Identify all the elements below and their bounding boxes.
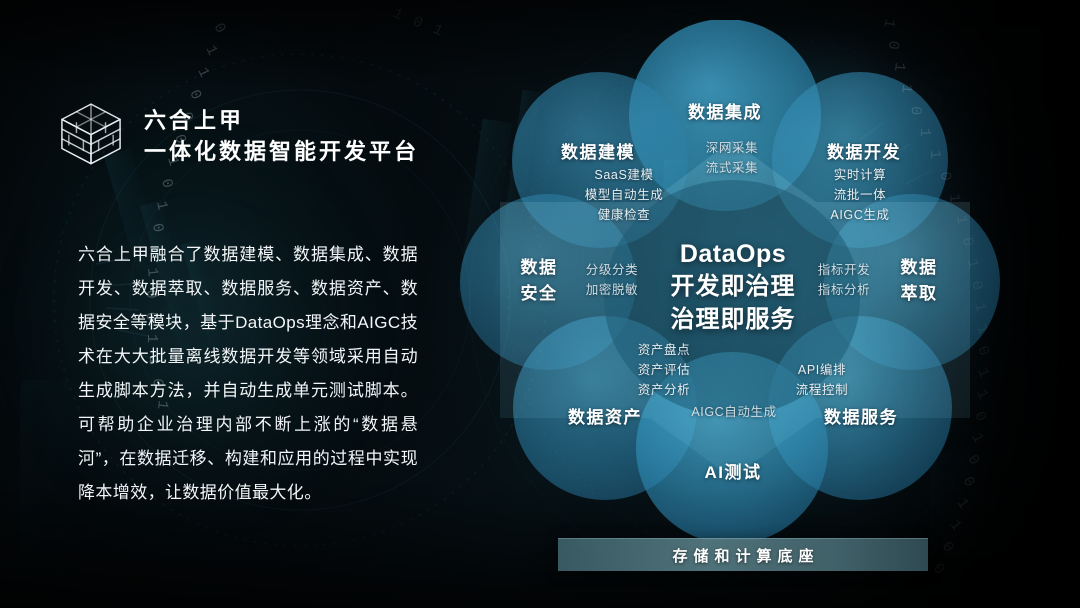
brand-header: 六合上甲 一体化数据智能开发平台 <box>56 100 419 172</box>
storage-compute-base-label: 存储和计算底座 <box>666 545 819 566</box>
brick-corner-logo-icon <box>56 100 126 172</box>
center-title-cn-line2: 治理即服务 <box>622 303 844 336</box>
venn-center-title: DataOps 开发即治理 治理即服务 <box>622 238 844 336</box>
brand-name: 六合上甲 <box>144 108 419 133</box>
venn-diagram: 数据集成 数据建模 数据开发 数据 安全 数据 萃取 数据资产 数据服务 AI测… <box>460 20 1020 540</box>
description-paragraph: 六合上甲融合了数据建模、数据集成、数据开发、数据萃取、数据服务、数据资产、数据安… <box>78 238 418 510</box>
brand-text: 六合上甲 一体化数据智能开发平台 <box>144 108 419 164</box>
brand-tagline: 一体化数据智能开发平台 <box>144 139 419 164</box>
storage-compute-base-bar[interactable]: 存储和计算底座 <box>558 538 928 571</box>
slide-root: 0 1 1 0 0 0 1 0 1 0 1 1 0 0 1 1 0 1 1 0 … <box>0 0 1080 608</box>
center-title-en: DataOps <box>622 238 844 270</box>
center-title-cn-line1: 开发即治理 <box>622 270 844 303</box>
left-content-column: 六合上甲 一体化数据智能开发平台 六合上甲融合了数据建模、数据集成、数据开发、数… <box>0 0 470 608</box>
